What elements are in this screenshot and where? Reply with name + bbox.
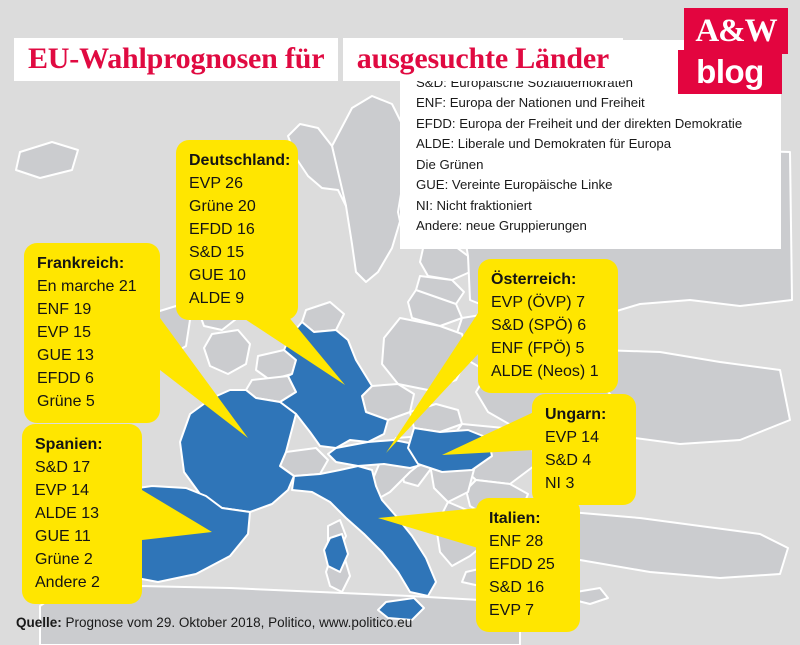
callout-row: GUE 10 [189, 264, 285, 287]
page-title: EU-Wahlprognosen für ausgesuchte Länder [14, 36, 623, 81]
callout-deutschland[interactable]: Deutschland: EVP 26 Grüne 20 EFDD 16 S&D… [176, 140, 298, 320]
source-text: Prognose vom 29. Oktober 2018, Politico,… [62, 615, 412, 630]
callout-row: ALDE (Neos) 1 [491, 360, 605, 383]
infographic-root: EU-Wahlprognosen für ausgesuchte Länder … [0, 0, 800, 645]
callout-row: GUE 11 [35, 525, 129, 548]
callout-spanien[interactable]: Spanien: S&D 17 EVP 14 ALDE 13 GUE 11 Gr… [22, 424, 142, 604]
callout-row: S&D 15 [189, 241, 285, 264]
callout-row: Grüne 2 [35, 548, 129, 571]
callout-row: S&D 4 [545, 449, 623, 472]
callout-row: ENF (FPÖ) 5 [491, 337, 605, 360]
legend-item: Die Grünen [416, 155, 767, 176]
callout-row: ENF 28 [489, 530, 567, 553]
callout-title: Frankreich: [37, 252, 147, 275]
callout-row: EFDD 6 [37, 367, 147, 390]
source-label: Quelle: [16, 615, 62, 630]
callout-row: EFDD 16 [189, 218, 285, 241]
page-title-line-1: EU-Wahlprognosen für [14, 38, 338, 81]
callout-row: EVP (ÖVP) 7 [491, 291, 605, 314]
callout-row: ALDE 13 [35, 502, 129, 525]
legend-item: NI: Nicht fraktioniert [416, 196, 767, 217]
callout-row: EVP 15 [37, 321, 147, 344]
callout-oesterreich[interactable]: Österreich: EVP (ÖVP) 7 S&D (SPÖ) 6 ENF … [478, 259, 618, 393]
callout-ungarn[interactable]: Ungarn: EVP 14 S&D 4 NI 3 [532, 394, 636, 505]
callout-title: Italien: [489, 507, 567, 530]
callout-row: S&D 17 [35, 456, 129, 479]
country-hungary [408, 428, 492, 472]
callout-row: Grüne 5 [37, 390, 147, 413]
legend-item: ALDE: Liberale und Demokraten für Europa [416, 134, 767, 155]
legend-item: Andere: neue Gruppierungen [416, 216, 767, 237]
aw-blog-logo[interactable]: A&W blog [678, 8, 788, 96]
page-title-line-2: ausgesuchte Länder [343, 38, 623, 81]
callout-row: En marche 21 [37, 275, 147, 298]
callout-row: Andere 2 [35, 571, 129, 594]
callout-row: GUE 13 [37, 344, 147, 367]
callout-row: ENF 19 [37, 298, 147, 321]
logo-blog-text: blog [678, 50, 782, 94]
legend-item: GUE: Vereinte Europäische Linke [416, 175, 767, 196]
callout-row: Grüne 20 [189, 195, 285, 218]
callout-title: Deutschland: [189, 149, 285, 172]
callout-row: S&D 16 [489, 576, 567, 599]
callout-italien[interactable]: Italien: ENF 28 EFDD 25 S&D 16 EVP 7 [476, 498, 580, 632]
source-note: Quelle: Prognose vom 29. Oktober 2018, P… [16, 615, 412, 630]
legend-item: EFDD: Europa der Freiheit und der direkt… [416, 114, 767, 135]
legend-item: ENF: Europa der Nationen und Freiheit [416, 93, 767, 114]
callout-title: Österreich: [491, 268, 605, 291]
callout-frankreich[interactable]: Frankreich: En marche 21 ENF 19 EVP 15 G… [24, 243, 160, 423]
callout-title: Spanien: [35, 433, 129, 456]
logo-aw-text: A&W [684, 8, 788, 54]
callout-row: ALDE 9 [189, 287, 285, 310]
callout-row: EVP 7 [489, 599, 567, 622]
callout-row: EVP 14 [35, 479, 129, 502]
callout-row: EVP 14 [545, 426, 623, 449]
callout-row: NI 3 [545, 472, 623, 495]
callout-title: Ungarn: [545, 403, 623, 426]
callout-row: S&D (SPÖ) 6 [491, 314, 605, 337]
callout-row: EFDD 25 [489, 553, 567, 576]
callout-row: EVP 26 [189, 172, 285, 195]
